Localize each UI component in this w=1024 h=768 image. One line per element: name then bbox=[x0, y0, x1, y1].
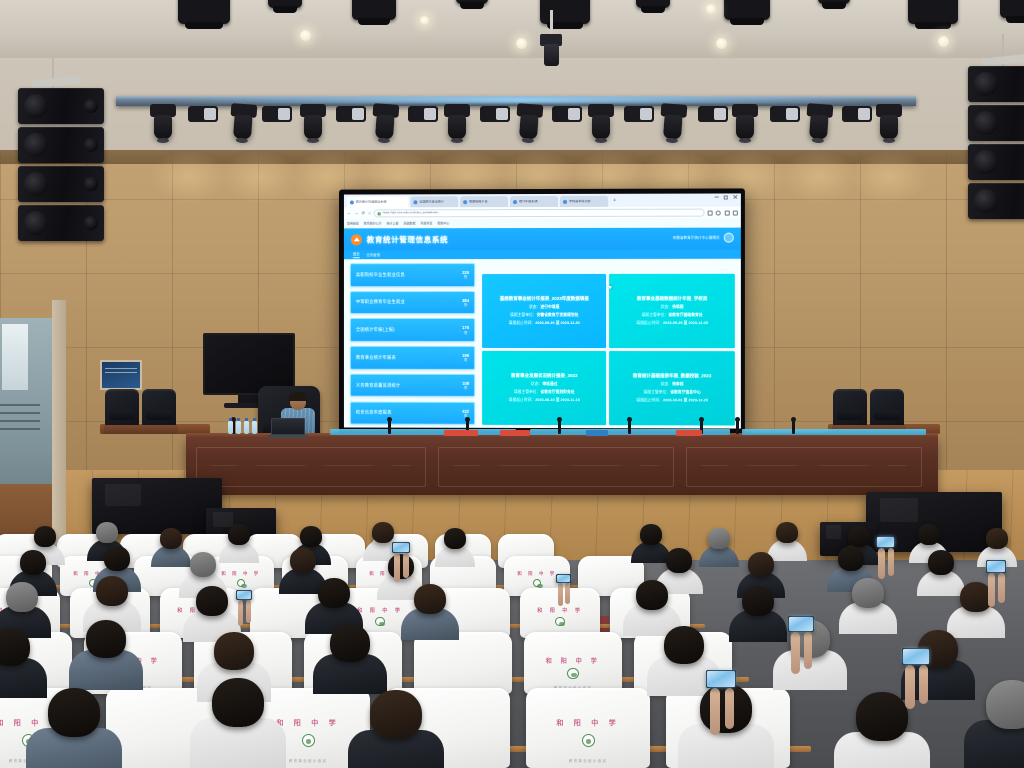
header-right[interactable]: 安徽省教育厅统计中心管理员 bbox=[673, 233, 734, 243]
wall-info-display bbox=[100, 360, 142, 390]
favicon-icon bbox=[350, 200, 354, 204]
pan-can-light-icon bbox=[698, 106, 728, 122]
person-head bbox=[388, 554, 414, 579]
task-card-3[interactable]: 教育统计基础报表年报_数据校验_2023状态：待审核填报主管单位：省教育厅信息中… bbox=[610, 351, 735, 425]
raised-arm bbox=[725, 688, 735, 729]
person-head bbox=[160, 528, 182, 549]
person-head bbox=[86, 620, 126, 658]
card-row: 填报起止时间：2023-10-01 至 2023-12-20 bbox=[636, 398, 708, 403]
ceiling bbox=[0, 0, 1024, 62]
raised-arm bbox=[565, 583, 570, 604]
tab-label: 数据填报平台 bbox=[469, 200, 488, 203]
person-head bbox=[928, 550, 954, 575]
person-head bbox=[212, 678, 264, 727]
moving-head-light-icon bbox=[371, 103, 400, 145]
raised-arm bbox=[919, 665, 928, 704]
sidebar-item-0[interactable]: 高职院校毕业生就业信息220所 bbox=[350, 263, 475, 287]
raised-arm bbox=[246, 600, 251, 623]
person-head bbox=[48, 688, 100, 737]
ceiling-can-light bbox=[636, 0, 670, 8]
ceiling-can-light bbox=[1000, 0, 1024, 18]
app-header: 教育统计管理信息系统 安徽省教育厅统计中心管理员 bbox=[344, 228, 741, 251]
card-title: 教育事业基础数据统计年报_学校类 bbox=[637, 296, 707, 302]
document-folder bbox=[586, 430, 608, 436]
ceiling-downlight-icon bbox=[300, 30, 311, 41]
ceiling-can-light bbox=[178, 0, 230, 24]
document-folder bbox=[444, 430, 478, 436]
tab-label: 学校基本情况表 bbox=[569, 200, 591, 203]
task-card-1[interactable]: 教育事业基础数据统计年报_学校类状态：待填报填报主管单位：省教育厅基础教育处填报… bbox=[610, 274, 735, 348]
person-head bbox=[986, 680, 1024, 729]
badge-unit: 所 bbox=[464, 275, 467, 279]
browser-tab[interactable]: 数据填报平台 bbox=[460, 196, 508, 207]
desk-runner bbox=[330, 429, 516, 435]
person-head bbox=[986, 528, 1008, 549]
card-row: 状态：进行中填报 bbox=[529, 305, 559, 310]
badge-unit: 项 bbox=[464, 386, 467, 390]
person-head bbox=[104, 546, 130, 571]
person-head bbox=[742, 586, 774, 616]
sidebar-item-label: 义务教育质量监测统计 bbox=[356, 382, 462, 388]
smartphone-camera-icon bbox=[876, 536, 895, 548]
bookmark-item[interactable]: 教育部办公厅 bbox=[364, 222, 382, 225]
line-array-speaker-icon bbox=[18, 88, 104, 244]
document-folder bbox=[500, 430, 530, 436]
browser-chrome: 教育统计管理信息系统全国教育事业统计数据填报平台统计年报系统学校基本情况表+ ←… bbox=[344, 193, 741, 228]
ceiling-can-light bbox=[352, 0, 396, 20]
card-row: 填报起止时间：2023-09-25 至 2023-12-05 bbox=[636, 321, 708, 326]
url-text: https://tjxt.moe.edu.cn/index_portal/ind… bbox=[383, 212, 439, 215]
card-row: 填报主管单位：安徽省教育厅发展规划处 bbox=[510, 313, 578, 318]
water-bottle bbox=[228, 421, 233, 434]
person-head bbox=[852, 578, 884, 608]
home-icon[interactable] bbox=[351, 234, 362, 245]
person-head bbox=[34, 526, 56, 547]
school-crest-icon bbox=[567, 668, 578, 679]
smartphone-camera-icon bbox=[986, 560, 1006, 573]
card-row: 状态：审核通过 bbox=[531, 382, 558, 387]
favicon-icon bbox=[463, 200, 467, 204]
wall-trim bbox=[0, 150, 1024, 164]
person-head bbox=[370, 690, 422, 739]
desk-runner bbox=[742, 429, 926, 435]
raised-arm bbox=[998, 573, 1004, 603]
person-head bbox=[444, 528, 466, 549]
minimize-icon[interactable] bbox=[715, 197, 719, 198]
person-head bbox=[214, 632, 254, 670]
smartphone-camera-icon bbox=[236, 590, 252, 600]
desk-microphone-icon bbox=[792, 420, 795, 434]
reload-icon[interactable]: ⟳ bbox=[362, 211, 366, 215]
breadcrumb-item[interactable]: 首页 bbox=[353, 252, 360, 258]
person-head bbox=[640, 524, 662, 545]
ceiling-can-light bbox=[456, 0, 488, 4]
ceiling-downlight-icon bbox=[938, 36, 949, 47]
org-name: 安徽省教育厅统计中心管理员 bbox=[673, 235, 720, 240]
extension-icon[interactable] bbox=[707, 210, 712, 215]
seat-cover bbox=[414, 632, 512, 694]
window-controls[interactable] bbox=[715, 194, 738, 199]
card-row: 填报起止时间：2023-09-20 至 2023-11-30 bbox=[509, 321, 580, 326]
person-head bbox=[96, 522, 118, 543]
bookmark-item[interactable]: 帮助中心 bbox=[437, 222, 449, 225]
auditorium-scene: 教育统计管理信息系统全国教育事业统计数据填报平台统计年报系统学校基本情况表+ ←… bbox=[0, 0, 1024, 768]
badge-unit: 项 bbox=[464, 331, 467, 335]
person-head bbox=[838, 546, 864, 571]
ceiling-can-light bbox=[268, 0, 302, 8]
raised-arm bbox=[804, 632, 812, 669]
head-table bbox=[186, 437, 938, 495]
school-crest-icon bbox=[582, 734, 595, 747]
person-head bbox=[372, 522, 394, 543]
raised-arm bbox=[558, 583, 563, 606]
water-bottle bbox=[252, 421, 257, 434]
browser-nav-bar[interactable]: ← → ⟳ ⌂ https://tjxt.moe.edu.cn/index_po… bbox=[344, 207, 741, 220]
collections-icon[interactable] bbox=[724, 210, 729, 215]
person-head bbox=[96, 576, 128, 606]
raised-arm bbox=[988, 573, 995, 607]
sidebar-item-label: 全国统计年报(上报) bbox=[356, 327, 462, 333]
raised-arm bbox=[710, 688, 720, 735]
tab-label: 教育统计管理信息系统 bbox=[356, 200, 387, 203]
smartphone-camera-icon bbox=[902, 648, 930, 665]
document-folder bbox=[676, 430, 702, 436]
card-title: 教育统计基础报表年报_数据校验_2023 bbox=[633, 373, 711, 379]
person-head bbox=[848, 526, 870, 547]
more-icon[interactable]: ··· bbox=[722, 267, 729, 272]
person-head bbox=[318, 578, 350, 608]
person-head bbox=[228, 524, 250, 545]
tab-label: 全国教育事业统计 bbox=[419, 200, 444, 203]
desk-microphone-icon bbox=[558, 420, 561, 434]
browser-tab[interactable]: 学校基本情况表 bbox=[560, 196, 608, 207]
sidebar-item-badge: 175项 bbox=[462, 325, 469, 334]
address-bar[interactable]: https://tjxt.moe.edu.cn/index_portal/ind… bbox=[374, 209, 704, 218]
ceiling-downlight-icon bbox=[420, 16, 429, 25]
ceiling-downlight-icon bbox=[706, 4, 716, 14]
card-row: 填报主管单位：省教育厅基础教育处 bbox=[642, 313, 703, 318]
chair-cover-sublabel: 教育事业统计培训 bbox=[526, 758, 650, 763]
sidebar-item-4[interactable]: 义务教育质量监测统计108项 bbox=[350, 374, 475, 398]
ceiling-downlight-icon bbox=[516, 38, 527, 49]
sidebar-item-badge: 220所 bbox=[462, 270, 469, 279]
page-title: 教育统计管理信息系统 bbox=[367, 234, 448, 245]
raised-arm bbox=[394, 553, 400, 582]
bookmark-item[interactable]: 年报专区 bbox=[420, 222, 432, 225]
moving-head-light-icon bbox=[659, 103, 688, 145]
sidebar-item-badge: 196项 bbox=[462, 353, 469, 362]
moving-head-light-icon bbox=[444, 104, 470, 144]
sidebar-item-label: 高职院校毕业生就业信息 bbox=[356, 272, 462, 278]
card-title: 基层教育事业统计年报表_2023年度数据填报 bbox=[500, 296, 589, 302]
school-crest-icon bbox=[237, 579, 245, 587]
ceiling-can-light bbox=[818, 0, 850, 4]
bookmark-item[interactable]: 统计上报 bbox=[387, 222, 399, 225]
seat-cover: 和 阳 中 学教育事业统计培训 bbox=[526, 688, 650, 768]
audience-area: 和 阳 中 学和 阳 中 学和 阳 中 学和 阳 中 学和 阳 中 学和 阳 中… bbox=[0, 520, 1024, 768]
pan-can-light-icon bbox=[624, 106, 654, 122]
person-head bbox=[196, 586, 228, 616]
back-icon[interactable]: ← bbox=[347, 211, 351, 215]
seat-cover: 和 阳 中 学教育事业统计培训 bbox=[524, 632, 622, 694]
person-head bbox=[748, 552, 774, 577]
smartphone-camera-icon bbox=[788, 616, 814, 632]
task-card-2[interactable]: 教育事业发展状况统计报表_2023状态：审核通过填报主管单位：省教育厅规划财务处… bbox=[482, 351, 607, 425]
favicon-icon bbox=[413, 200, 417, 204]
person-head bbox=[856, 692, 908, 741]
moving-head-light-icon bbox=[876, 104, 902, 144]
desk-microphone-icon bbox=[628, 420, 631, 434]
person-head bbox=[960, 582, 992, 612]
person-head bbox=[6, 582, 38, 612]
card-row: 填报主管单位：省教育厅信息中心 bbox=[643, 390, 700, 395]
raised-arm bbox=[878, 548, 884, 579]
left-chair-pair bbox=[104, 388, 178, 434]
water-bottle bbox=[236, 421, 241, 434]
pan-can-light-icon bbox=[188, 106, 218, 122]
card-row: 状态：待审核 bbox=[661, 382, 684, 387]
person-head bbox=[190, 552, 216, 577]
sidebar-item-1[interactable]: 中等职业教育毕业生就业384所 bbox=[350, 291, 475, 314]
projector-icon bbox=[538, 10, 564, 68]
pan-can-light-icon bbox=[842, 106, 872, 122]
desk-microphone-icon bbox=[736, 420, 739, 434]
right-chair-pair bbox=[832, 388, 906, 434]
seat-armrest bbox=[787, 746, 811, 752]
raised-arm bbox=[791, 632, 800, 674]
smartphone-camera-icon bbox=[392, 542, 410, 553]
forward-icon[interactable]: → bbox=[354, 211, 358, 215]
chair-cover-text: 和 阳 中 学 bbox=[520, 607, 600, 614]
moving-head-light-icon bbox=[515, 103, 544, 145]
pan-can-light-icon bbox=[336, 106, 366, 122]
favicon-icon bbox=[513, 200, 517, 204]
card-row: 状态：待填报 bbox=[661, 305, 684, 310]
bookmark-item[interactable]: 基础数据 bbox=[404, 222, 416, 225]
account-icon[interactable] bbox=[716, 210, 721, 215]
maximize-icon[interactable] bbox=[724, 195, 728, 199]
badge-unit: 项 bbox=[464, 358, 467, 362]
school-crest-icon bbox=[533, 579, 541, 587]
settings-icon[interactable] bbox=[733, 210, 738, 215]
school-crest-icon bbox=[555, 617, 564, 626]
ceiling-can-light bbox=[908, 0, 958, 24]
pan-can-light-icon bbox=[262, 106, 292, 122]
laptop-icon bbox=[268, 418, 308, 438]
bookmark-item[interactable]: 常用链接 bbox=[347, 222, 359, 225]
ceiling-downlight-icon bbox=[716, 38, 727, 49]
browser-tab[interactable]: 统计年报系统 bbox=[510, 196, 558, 207]
person-head bbox=[20, 550, 46, 575]
person-head bbox=[330, 624, 370, 662]
sidebar-item-5[interactable]: 校舍信息年度报表432项 bbox=[350, 401, 475, 425]
favicon-icon bbox=[563, 199, 567, 203]
person-head bbox=[708, 528, 730, 549]
task-card-0[interactable]: 基层教育事业统计年报表_2023年度数据填报状态：进行中填报填报主管单位：安徽省… bbox=[482, 274, 607, 348]
browser-tab-strip[interactable]: 教育统计管理信息系统全国教育事业统计数据填报平台统计年报系统学校基本情况表+ bbox=[344, 193, 741, 207]
projection-screen: 教育统计管理信息系统全国教育事业统计数据填报平台统计年报系统学校基本情况表+ ←… bbox=[339, 188, 745, 435]
truss-glow bbox=[170, 97, 870, 103]
desk-microphone-icon bbox=[388, 420, 391, 434]
tab-label: 统计年报系统 bbox=[519, 200, 538, 203]
person-head bbox=[290, 548, 316, 573]
card-row: 填报起止时间：2023-08-10 至 2023-11-15 bbox=[509, 398, 580, 403]
pan-can-light-icon bbox=[552, 106, 582, 122]
moving-head-light-icon bbox=[805, 103, 834, 145]
browser-tab[interactable]: 全国教育事业统计 bbox=[410, 196, 458, 207]
sidebar-item-badge: 108项 bbox=[462, 381, 469, 390]
person-head bbox=[300, 526, 322, 547]
moving-head-light-icon bbox=[300, 104, 326, 144]
lock-icon bbox=[378, 212, 381, 215]
sidebar-item-label: 教育事业统计年报表 bbox=[356, 355, 462, 361]
raised-arm bbox=[238, 600, 243, 626]
card-row: 填报主管单位：省教育厅规划财务处 bbox=[514, 390, 575, 395]
raised-arm bbox=[888, 548, 894, 576]
moving-head-light-icon bbox=[150, 104, 176, 144]
sidebar-item-badge: 384所 bbox=[462, 298, 469, 307]
home-icon[interactable]: ⌂ bbox=[368, 211, 371, 215]
person-head bbox=[414, 584, 446, 614]
card-title: 教育事业发展状况统计报表_2023 bbox=[511, 373, 578, 379]
chair-cover-text: 和 阳 中 学 bbox=[524, 656, 622, 665]
raised-arm bbox=[905, 665, 915, 709]
line-array-speaker-icon bbox=[968, 66, 1024, 222]
moving-head-light-icon bbox=[588, 104, 614, 144]
sidebar-item-3[interactable]: 教育事业统计年报表196项 bbox=[350, 346, 475, 370]
pan-can-light-icon bbox=[408, 106, 438, 122]
smartphone-camera-icon bbox=[556, 574, 571, 583]
person-head bbox=[918, 524, 940, 545]
app-body: 高职院校毕业生就业信息220所中等职业教育毕业生就业384所全国统计年报(上报)… bbox=[344, 259, 741, 429]
pan-can-light-icon bbox=[480, 106, 510, 122]
chair-cover-text: 和 阳 中 学 bbox=[526, 718, 650, 728]
new-tab-button[interactable]: + bbox=[610, 196, 619, 207]
breadcrumb-item[interactable]: 任务管理 bbox=[367, 252, 380, 257]
person-head bbox=[776, 522, 798, 543]
person-head bbox=[666, 548, 692, 573]
moving-head-light-icon bbox=[229, 103, 258, 145]
sidebar-item-label: 校舍信息年度报表 bbox=[356, 410, 462, 416]
user-avatar-icon[interactable] bbox=[724, 233, 734, 243]
sidebar-item-label: 中等职业教育毕业生就业 bbox=[356, 299, 462, 305]
breadcrumb[interactable]: 首页任务管理 bbox=[344, 250, 741, 260]
pan-can-light-icon bbox=[770, 106, 800, 122]
moving-head-light-icon bbox=[732, 104, 758, 144]
school-crest-icon bbox=[302, 734, 315, 747]
smartphone-camera-icon bbox=[706, 670, 736, 688]
close-icon[interactable] bbox=[733, 194, 738, 199]
sidebar-item-2[interactable]: 全国统计年报(上报)175项 bbox=[350, 318, 475, 341]
school-crest-icon bbox=[375, 617, 384, 626]
person-head bbox=[636, 580, 668, 610]
person-head bbox=[664, 626, 704, 664]
card-toolbar[interactable]: ··· bbox=[482, 265, 735, 274]
task-card-grid[interactable]: 基层教育事业统计年报表_2023年度数据填报状态：进行中填报填报主管单位：安徽省… bbox=[482, 274, 735, 426]
browser-tab[interactable]: 教育统计管理信息系统 bbox=[347, 196, 409, 207]
ceiling-can-light bbox=[724, 0, 770, 20]
badge-unit: 所 bbox=[464, 303, 467, 307]
sidebar-list[interactable]: 高职院校毕业生就业信息220所中等职业教育毕业生就业384所全国统计年报(上报)… bbox=[344, 259, 480, 428]
browser-toolbar-icons[interactable] bbox=[707, 210, 738, 215]
raised-arm bbox=[403, 553, 409, 578]
person-head bbox=[0, 628, 30, 666]
water-bottle bbox=[244, 421, 249, 434]
